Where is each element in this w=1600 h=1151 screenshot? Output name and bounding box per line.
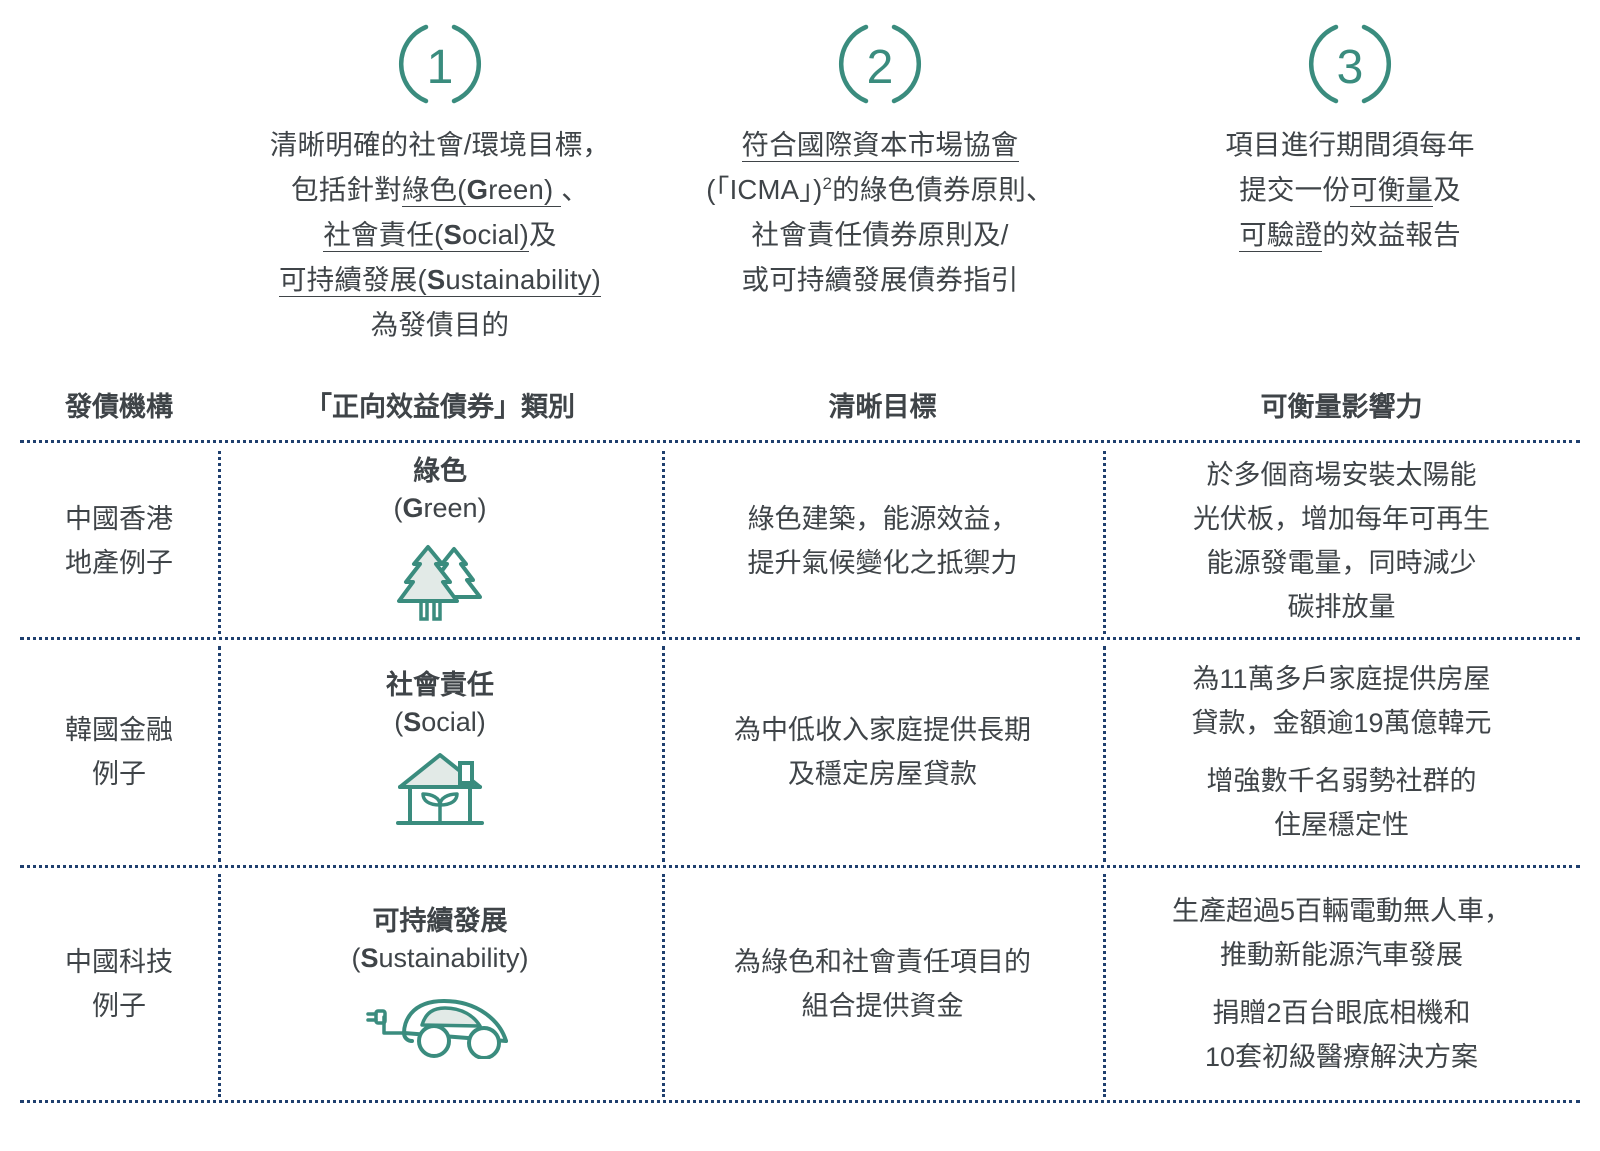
impact-text: 生產超過5百輛電動無人車，推動新能源汽車發展 xyxy=(1172,889,1511,977)
table-row: 韓國金融例子 社會責任 (Social) 為中低收入家庭提供長期及穩定房屋貸款 xyxy=(20,638,1580,866)
impact-text: 捐贈2百台眼底相機和10套初級醫療解決方案 xyxy=(1205,991,1478,1079)
step-3-text: 項目進行期間須每年 提交一份可衡量及 可驗證的效益報告 xyxy=(1115,122,1585,257)
objective-text: 為綠色和社會責任項目的組合提供資金 xyxy=(734,940,1031,1028)
svg-text:1: 1 xyxy=(427,41,454,94)
category-name-en: (Social) xyxy=(394,703,486,741)
column-header-impact: 可衡量影響力 xyxy=(1103,385,1580,424)
issuer-label: 中國科技例子 xyxy=(65,940,173,1028)
bond-examples-table: 發債機構 「正向效益債券」類別 清晰目標 可衡量影響力 中國香港地產例子 綠色 … xyxy=(20,385,1580,1130)
cell-category: 社會責任 (Social) xyxy=(218,638,662,866)
cell-issuer: 中國香港地產例子 xyxy=(20,443,218,638)
category-name-en: (Sustainability) xyxy=(351,939,528,977)
objective-text: 為中低收入家庭提供長期及穩定房屋貸款 xyxy=(734,708,1031,796)
step-3: 3 項目進行期間須每年 提交一份可衡量及 可驗證的效益報告 xyxy=(1115,20,1585,257)
table-header-row: 發債機構 「正向效益債券」類別 清晰目標 可衡量影響力 xyxy=(20,385,1580,437)
column-header-issuer: 發債機構 xyxy=(20,385,218,424)
circled-number-2-icon: 2 xyxy=(836,20,924,108)
objective-text: 綠色建築，能源效益，提升氣候變化之抵禦力 xyxy=(748,497,1018,585)
table-row: 中國科技例子 可持續發展 (Sustainability) 為綠色和社會責任項目 xyxy=(20,866,1580,1101)
step-2: 2 符合國際資本市場協會 (「ICMA」)2的綠色債券原則、 社會責任債券原則及… xyxy=(645,20,1115,302)
cell-category: 綠色 (Green) xyxy=(218,443,662,638)
impact-text: 於多個商場安裝太陽能光伏板，增加每年可再生能源發電量，同時減少碳排放量 xyxy=(1193,453,1490,629)
step-1-text: 清晰明確的社會/環境目標， 包括針對綠色(Green) 、 社會責任(Socia… xyxy=(185,122,695,347)
steps-section: 1 清晰明確的社會/環境目標， 包括針對綠色(Green) 、 社會責任(Soc… xyxy=(0,0,1600,380)
cell-impact: 為11萬多戶家庭提供房屋貸款，金額逾19萬億韓元 增強數千名弱勢社群的住屋穩定性 xyxy=(1103,638,1580,866)
circled-number-1-icon: 1 xyxy=(396,20,484,108)
issuer-label: 中國香港地產例子 xyxy=(65,497,173,585)
pine-trees-icon xyxy=(397,533,483,628)
cell-objective: 為綠色和社會責任項目的組合提供資金 xyxy=(662,866,1103,1101)
impact-text: 增強數千名弱勢社群的住屋穩定性 xyxy=(1207,759,1477,847)
cell-category: 可持續發展 (Sustainability) xyxy=(218,866,662,1101)
category-name-cn: 綠色 xyxy=(413,453,467,489)
category-name-en: (Green) xyxy=(393,489,486,527)
step-1: 1 清晰明確的社會/環境目標， 包括針對綠色(Green) 、 社會責任(Soc… xyxy=(185,20,695,347)
column-header-objective: 清晰目標 xyxy=(662,385,1103,424)
category-name-cn: 可持續發展 xyxy=(373,903,508,939)
cell-objective: 為中低收入家庭提供長期及穩定房屋貸款 xyxy=(662,638,1103,866)
cell-impact: 生產超過5百輛電動無人車，推動新能源汽車發展 捐贈2百台眼底相機和10套初級醫療… xyxy=(1103,866,1580,1101)
category-name-cn: 社會責任 xyxy=(386,667,494,703)
svg-text:3: 3 xyxy=(1337,41,1364,94)
impact-text: 為11萬多戶家庭提供房屋貸款，金額逾19萬億韓元 xyxy=(1191,657,1491,745)
issuer-label: 韓國金融例子 xyxy=(65,708,173,796)
step-2-text: 符合國際資本市場協會 (「ICMA」)2的綠色債券原則、 社會責任債券原則及/ … xyxy=(645,122,1115,302)
house-with-leaf-icon xyxy=(392,747,488,838)
cell-objective: 綠色建築，能源效益，提升氣候變化之抵禦力 xyxy=(662,443,1103,638)
svg-text:2: 2 xyxy=(867,41,894,94)
cell-issuer: 中國科技例子 xyxy=(20,866,218,1101)
electric-car-icon xyxy=(360,983,520,1064)
column-header-category: 「正向效益債券」類別 xyxy=(218,385,662,424)
circled-number-3-icon: 3 xyxy=(1306,20,1394,108)
cell-issuer: 韓國金融例子 xyxy=(20,638,218,866)
table-row: 中國香港地產例子 綠色 (Green) 綠色建築，能源效益，提升氣候變化之抵禦力… xyxy=(20,443,1580,638)
cell-impact: 於多個商場安裝太陽能光伏板，增加每年可再生能源發電量，同時減少碳排放量 xyxy=(1103,443,1580,638)
